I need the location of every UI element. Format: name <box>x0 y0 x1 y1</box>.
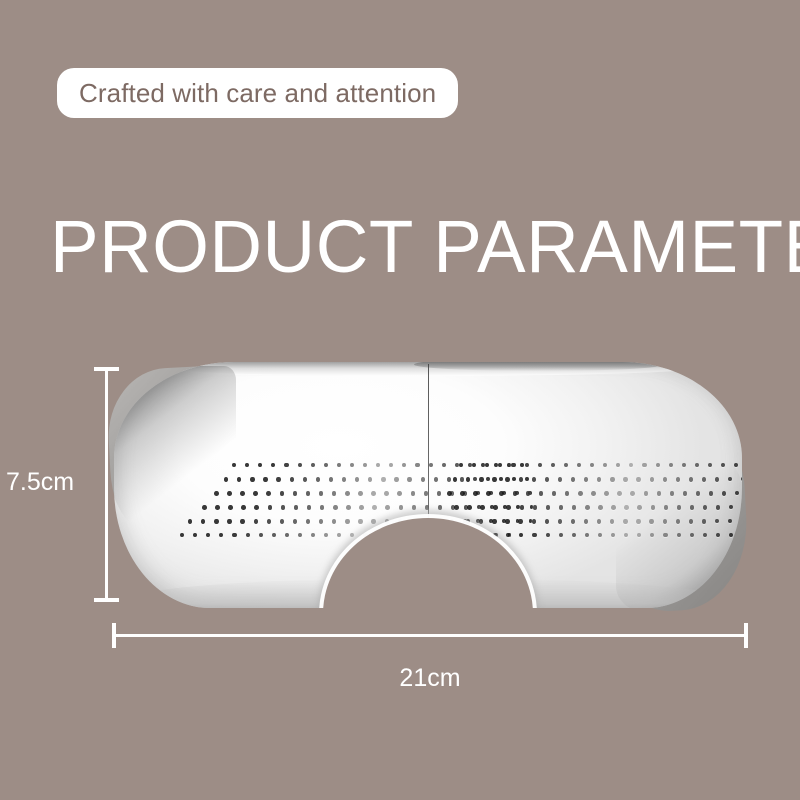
grille-dot <box>459 463 463 467</box>
tagline-text: Crafted with care and attention <box>79 78 436 109</box>
grille-dot <box>472 463 476 467</box>
grille-dot <box>489 519 493 523</box>
grille-dot <box>525 477 529 481</box>
grille-dot <box>402 463 406 467</box>
grille-dot <box>271 463 275 467</box>
device-right-crease <box>616 434 742 608</box>
grille-dot <box>421 477 425 482</box>
grille-dot <box>572 533 576 537</box>
grille-dot <box>384 491 389 496</box>
grille-dot <box>437 491 442 496</box>
grille-dot <box>494 533 498 537</box>
grille-dot <box>240 491 245 496</box>
grille-dot <box>429 463 433 467</box>
grille-dot <box>476 491 480 495</box>
grille-dot <box>306 519 310 524</box>
grille-dot <box>281 505 286 510</box>
grille-dot <box>240 519 244 524</box>
grille-dot <box>525 463 529 467</box>
grille-dot <box>337 533 341 537</box>
grille-dot <box>477 505 481 509</box>
grille-dot <box>272 533 276 537</box>
grille-dot <box>333 505 338 510</box>
grille-dot <box>303 477 307 482</box>
grille-dot <box>342 477 346 482</box>
grille-dot <box>376 463 380 467</box>
grille-dot <box>479 519 483 524</box>
grille-dot <box>533 505 538 510</box>
grille-dot <box>480 505 485 510</box>
grille-dot <box>571 519 575 524</box>
grille-dot <box>486 491 491 496</box>
grille-dot <box>545 477 549 482</box>
grille-dot <box>571 477 575 482</box>
grille-dot <box>473 477 477 481</box>
grille-dot <box>311 463 315 467</box>
grille-dot <box>237 477 241 482</box>
grille-dot <box>454 505 459 510</box>
grille-dot <box>530 505 534 509</box>
dimension-cap-bottom <box>94 598 119 602</box>
grille-dot <box>519 533 523 537</box>
grille-dot <box>332 491 337 496</box>
grille-dot <box>489 491 493 495</box>
dimension-cap-left <box>112 623 116 648</box>
grille-dot <box>263 477 267 482</box>
grille-dot <box>253 491 258 496</box>
grille-dot <box>610 477 614 482</box>
grille-dot <box>508 533 512 537</box>
grille-dot <box>515 491 519 495</box>
grille-dot <box>407 477 411 482</box>
grille-dot <box>565 491 570 496</box>
grille-dot <box>584 477 588 482</box>
grille-dot <box>529 519 533 523</box>
grille-dot <box>552 491 557 496</box>
grille-dot <box>598 533 602 537</box>
grille-dot <box>232 533 236 537</box>
grille-dot <box>520 463 524 467</box>
grille-dot <box>442 463 446 467</box>
grille-dot <box>389 463 393 467</box>
grille-dot <box>447 477 451 482</box>
dimension-height-label: 7.5cm <box>6 468 74 497</box>
grille-dot <box>298 463 302 467</box>
grille-dot <box>499 491 504 496</box>
grille-dot <box>551 463 555 467</box>
grille-dot <box>394 477 398 482</box>
grille-dot <box>250 477 254 482</box>
grille-dot <box>254 505 259 510</box>
grille-dot <box>511 463 515 467</box>
grille-dot <box>241 505 246 510</box>
grille-dot <box>494 463 498 467</box>
grille-dot <box>502 519 506 523</box>
grille-dot <box>492 519 496 524</box>
grille-dot <box>363 463 367 467</box>
grille-dot <box>451 505 455 510</box>
grille-dot <box>290 477 294 482</box>
grille-dot <box>285 533 289 537</box>
grille-dot <box>294 505 299 510</box>
device-left-crease <box>114 366 236 544</box>
grille-dot <box>464 505 468 510</box>
dimension-cap-top <box>94 367 119 371</box>
grille-dot <box>280 519 284 524</box>
grille-dot <box>611 533 615 537</box>
grille-dot <box>485 463 489 467</box>
grille-dot <box>258 463 262 467</box>
dimension-cap-right <box>744 623 748 648</box>
grille-dot <box>503 505 507 509</box>
grille-dot <box>558 519 562 524</box>
grille-dot <box>486 477 490 481</box>
grille-dot <box>311 533 315 537</box>
grille-dot <box>577 463 581 467</box>
grille-dot <box>381 477 385 482</box>
product-image <box>110 362 746 610</box>
grille-dot <box>306 491 311 496</box>
grille-dot <box>584 519 588 524</box>
grille-dot <box>546 533 550 537</box>
grille-dot <box>611 505 616 510</box>
grille-dot <box>411 491 416 496</box>
grille-dot <box>490 505 494 509</box>
grille-dot <box>463 491 467 496</box>
grille-dot <box>284 463 288 467</box>
grille-dot <box>519 477 523 482</box>
grille-dot <box>499 477 503 481</box>
grille-dot <box>516 519 520 523</box>
grille-dot <box>502 491 506 495</box>
grille-dot <box>506 533 510 537</box>
nose-bridge-notch <box>323 518 533 608</box>
grille-dot <box>512 477 516 481</box>
grille-dot <box>526 491 531 496</box>
grille-dot <box>455 463 459 467</box>
grille-dot <box>518 519 522 524</box>
grille-dot <box>385 505 390 510</box>
grille-dot <box>479 477 483 482</box>
grille-dot <box>345 519 349 524</box>
grille-dot <box>505 519 509 524</box>
grille-dot <box>558 477 562 482</box>
tagline-badge: Crafted with care and attention <box>57 68 458 118</box>
grille-dot <box>371 519 375 524</box>
grille-dot <box>492 477 496 482</box>
grille-dot <box>493 505 498 510</box>
grille-dot <box>481 463 485 467</box>
grille-dot <box>473 491 478 496</box>
grille-dot <box>585 505 590 510</box>
grille-dot <box>450 491 454 496</box>
grille-dot <box>460 491 465 496</box>
grille-dot <box>412 505 417 510</box>
grille-dot <box>528 491 532 495</box>
grille-dot <box>372 505 377 510</box>
device-shell <box>114 362 742 608</box>
grille-dot <box>319 519 323 524</box>
grille-dot <box>293 519 297 524</box>
grille-dot <box>546 505 551 510</box>
grille-dot <box>266 491 271 496</box>
grille-dot <box>532 477 536 482</box>
grille-dot <box>246 533 250 537</box>
grille-dot <box>293 491 298 496</box>
grille-dot <box>610 519 614 524</box>
grille-dot <box>245 463 249 467</box>
grille-dot <box>415 463 419 467</box>
grille-dot <box>319 491 324 496</box>
grille-dot <box>493 533 497 537</box>
grille-dot <box>467 505 472 510</box>
grille-dot <box>466 519 470 524</box>
grille-dot <box>346 505 351 510</box>
grille-dot <box>254 519 258 524</box>
grille-dot <box>564 463 568 467</box>
grille-dot <box>276 477 280 482</box>
grille-dot <box>498 463 502 467</box>
grille-dot <box>350 463 354 467</box>
grille-dot <box>371 491 376 496</box>
grille-dot <box>520 505 525 510</box>
grille-dot <box>267 519 271 524</box>
grille-dot <box>466 477 470 482</box>
grille-dot <box>438 505 443 510</box>
grille-dot <box>453 477 457 482</box>
grille-dot <box>320 505 325 510</box>
grille-dot <box>337 463 341 467</box>
grille-dot <box>505 477 509 482</box>
grille-dot <box>280 491 285 496</box>
grille-dot <box>468 463 472 467</box>
grille-dot <box>358 519 362 524</box>
grille-dot <box>506 505 511 510</box>
product-parameters-banner: Crafted with care and attention PRODUCT … <box>0 0 800 800</box>
grille-dot <box>559 505 564 510</box>
grille-dot <box>597 519 601 524</box>
grille-dot <box>578 491 583 496</box>
dimension-line-vertical <box>105 369 108 601</box>
grille-dot <box>572 505 577 510</box>
grille-dot <box>329 477 333 482</box>
grille-dot <box>447 491 452 496</box>
grille-dot <box>324 533 328 537</box>
grille-dot <box>324 463 328 467</box>
grille-dot <box>604 491 609 496</box>
grille-dot <box>598 505 603 510</box>
grille-dot <box>397 491 402 496</box>
grille-dot <box>332 519 336 524</box>
grille-dot <box>359 505 364 510</box>
grille-dot <box>268 505 273 510</box>
grille-dot <box>516 505 520 509</box>
grille-dot <box>434 477 438 482</box>
grille-dot <box>358 491 363 496</box>
grille-dot <box>538 463 542 467</box>
grille-dot <box>545 519 549 524</box>
grille-dot <box>532 533 536 537</box>
grille-dot <box>603 463 607 467</box>
dimension-line-horizontal <box>113 634 747 637</box>
grille-dot <box>307 505 312 510</box>
grille-dot <box>597 477 601 482</box>
grille-dot <box>585 533 589 537</box>
grille-dot <box>539 491 544 496</box>
grille-dot <box>298 533 302 537</box>
dimension-width-label: 21cm <box>0 664 800 693</box>
grille-dot <box>316 477 320 482</box>
grille-dot <box>591 491 596 496</box>
grille-dot <box>513 491 518 496</box>
grille-dot <box>350 533 354 537</box>
grille-dot <box>532 519 536 524</box>
grille-dot <box>259 533 263 537</box>
grille-dot <box>399 505 404 510</box>
page-title: PRODUCT PARAMETERS <box>50 207 779 287</box>
grille-dot <box>476 519 480 523</box>
grille-dot <box>345 491 350 496</box>
grille-dot <box>590 463 594 467</box>
grille-dot <box>385 519 389 524</box>
grille-dot <box>368 477 372 482</box>
grille-dot <box>559 533 563 537</box>
grille-dot <box>460 477 464 482</box>
grille-dot <box>507 463 511 467</box>
grille-dot <box>355 477 359 482</box>
